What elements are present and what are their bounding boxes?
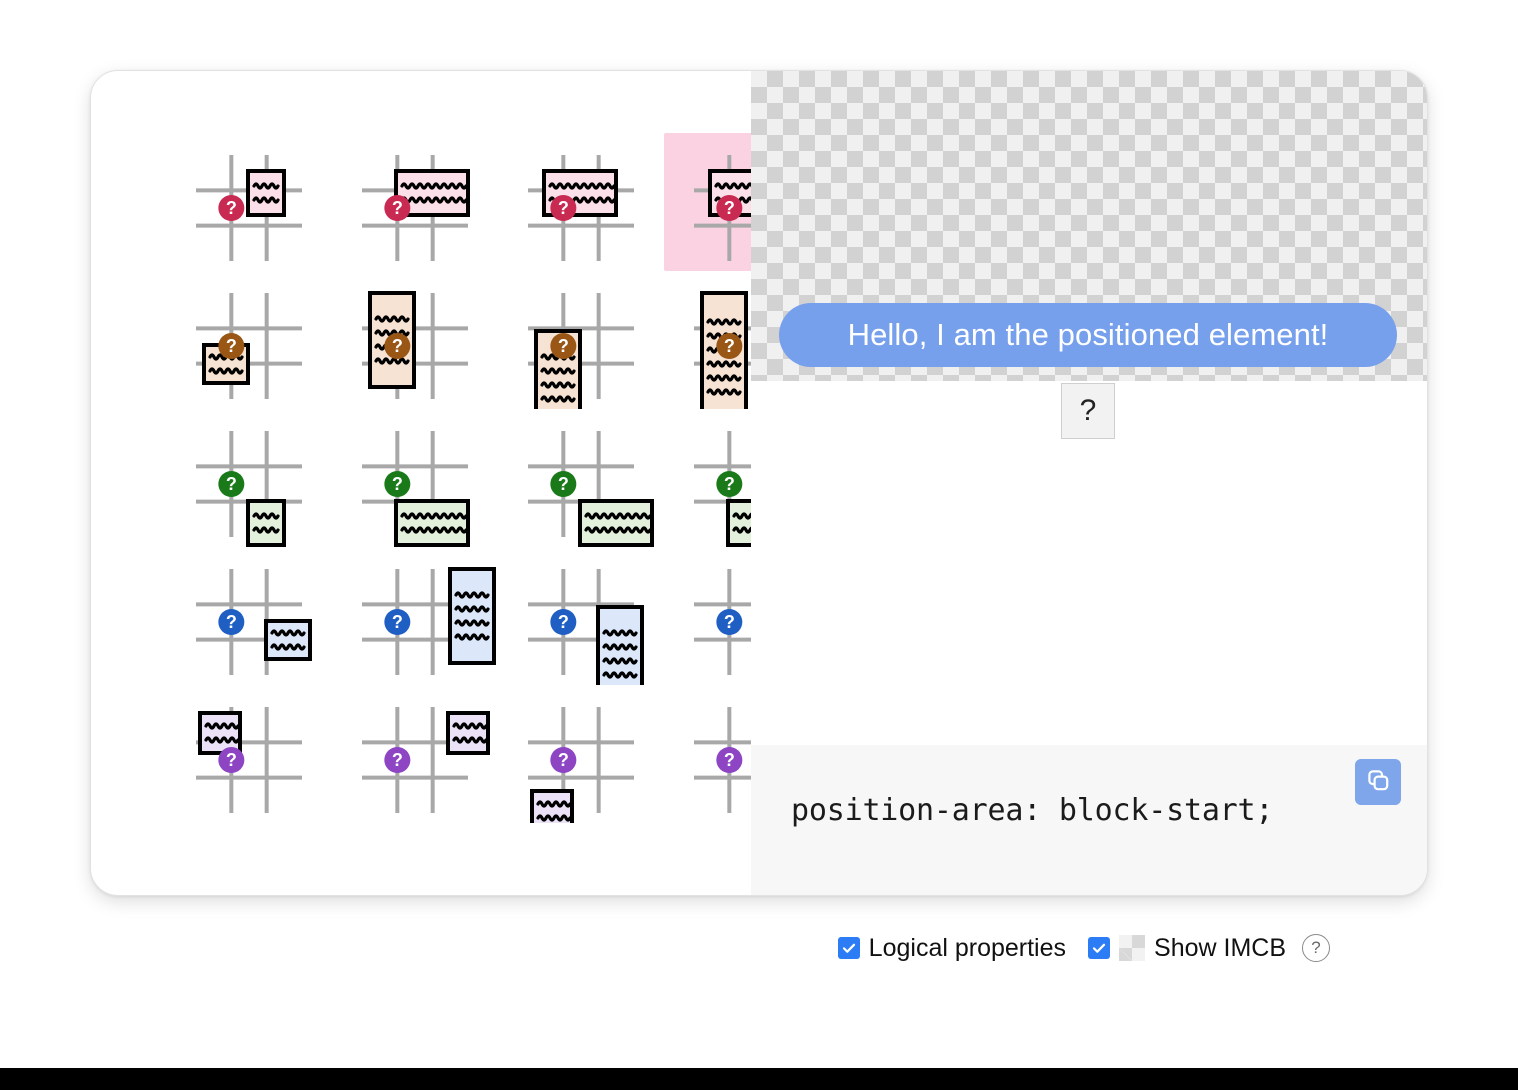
positioned-element-tooltip: Hello, I am the positioned element! <box>779 303 1397 367</box>
position-area-row: ???? <box>166 547 830 685</box>
svg-text:?: ? <box>392 198 403 218</box>
position-area-option[interactable]: ? <box>166 685 332 823</box>
position-area-option[interactable]: ? <box>498 133 664 271</box>
position-area-diagram: ? <box>166 547 332 685</box>
svg-text:?: ? <box>226 198 237 218</box>
position-area-option[interactable]: ? <box>332 685 498 823</box>
svg-text:?: ? <box>558 336 569 356</box>
anchor-label: ? <box>1080 394 1097 428</box>
position-area-option[interactable]: ? <box>166 409 332 547</box>
position-area-row: ???? <box>166 409 830 547</box>
position-area-diagram: ? <box>166 271 332 409</box>
position-area-row: ???? <box>166 133 830 271</box>
svg-text:?: ? <box>724 474 735 494</box>
logical-properties-checkbox[interactable] <box>838 937 860 959</box>
show-imcb-control[interactable]: Show IMCB <box>1088 934 1286 963</box>
svg-text:?: ? <box>724 198 735 218</box>
position-area-diagram: ? <box>498 271 664 409</box>
show-imcb-checkbox[interactable] <box>1088 937 1110 959</box>
app-root: ???????????????????? Hello, I am the pos… <box>0 0 1518 1090</box>
position-area-option[interactable]: ? <box>498 271 664 409</box>
svg-text:?: ? <box>392 750 403 770</box>
show-imcb-label: Show IMCB <box>1154 934 1286 963</box>
svg-text:?: ? <box>226 336 237 356</box>
position-area-diagram: ? <box>166 133 332 271</box>
position-area-grid[interactable]: ???????????????????? <box>166 133 830 823</box>
anchor-element[interactable]: ? <box>1061 383 1115 439</box>
tooltip-text: Hello, I am the positioned element! <box>848 317 1329 353</box>
svg-text:?: ? <box>558 198 569 218</box>
position-area-option[interactable]: ? <box>332 409 498 547</box>
position-area-option[interactable]: ? <box>166 133 332 271</box>
svg-text:?: ? <box>724 750 735 770</box>
position-area-diagram: ? <box>332 271 498 409</box>
bottom-controls: Logical properties Show IMCB ? <box>0 920 1426 976</box>
position-area-diagram: ? <box>332 133 498 271</box>
position-area-diagram: ? <box>498 409 664 547</box>
help-icon-label: ? <box>1311 938 1320 958</box>
svg-text:?: ? <box>392 612 403 632</box>
svg-text:?: ? <box>226 612 237 632</box>
imcb-swatch-icon <box>1119 935 1145 961</box>
help-icon[interactable]: ? <box>1302 934 1330 962</box>
position-area-option[interactable]: ? <box>166 271 332 409</box>
bottom-letterbox <box>0 1068 1518 1090</box>
position-area-diagram: ? <box>332 547 498 685</box>
svg-text:?: ? <box>558 474 569 494</box>
visualizer-card: ???????????????????? Hello, I am the pos… <box>90 70 1428 896</box>
logical-properties-label: Logical properties <box>869 934 1066 963</box>
position-area-option[interactable]: ? <box>166 547 332 685</box>
copy-icon <box>1364 766 1392 799</box>
svg-text:?: ? <box>724 612 735 632</box>
svg-text:?: ? <box>226 474 237 494</box>
position-area-row: ???? <box>166 271 830 409</box>
svg-text:?: ? <box>226 750 237 770</box>
position-area-diagram: ? <box>498 133 664 271</box>
position-area-option[interactable]: ? <box>498 547 664 685</box>
position-area-option[interactable]: ? <box>498 409 664 547</box>
position-area-grid-panel: ???????????????????? <box>91 71 751 895</box>
logical-properties-control[interactable]: Logical properties <box>838 934 1066 963</box>
copy-button[interactable] <box>1355 759 1401 805</box>
svg-text:?: ? <box>392 474 403 494</box>
position-area-diagram: ? <box>332 409 498 547</box>
svg-text:?: ? <box>558 612 569 632</box>
code-declaration: position-area: block-start; <box>791 793 1273 828</box>
position-area-diagram: ? <box>332 685 498 823</box>
position-area-option[interactable]: ? <box>498 685 664 823</box>
svg-text:?: ? <box>558 750 569 770</box>
position-area-diagram: ? <box>166 409 332 547</box>
position-area-option[interactable]: ? <box>332 271 498 409</box>
svg-text:?: ? <box>392 336 403 356</box>
code-block: position-area: block-start; <box>751 745 1427 895</box>
preview-panel: Hello, I am the positioned element! ? po… <box>751 71 1427 895</box>
position-area-row: ???? <box>166 685 830 823</box>
position-area-diagram: ? <box>166 685 332 823</box>
position-area-option[interactable]: ? <box>332 547 498 685</box>
position-area-option[interactable]: ? <box>332 133 498 271</box>
svg-text:?: ? <box>724 336 735 356</box>
position-area-diagram: ? <box>498 547 664 685</box>
position-area-diagram: ? <box>498 685 664 823</box>
